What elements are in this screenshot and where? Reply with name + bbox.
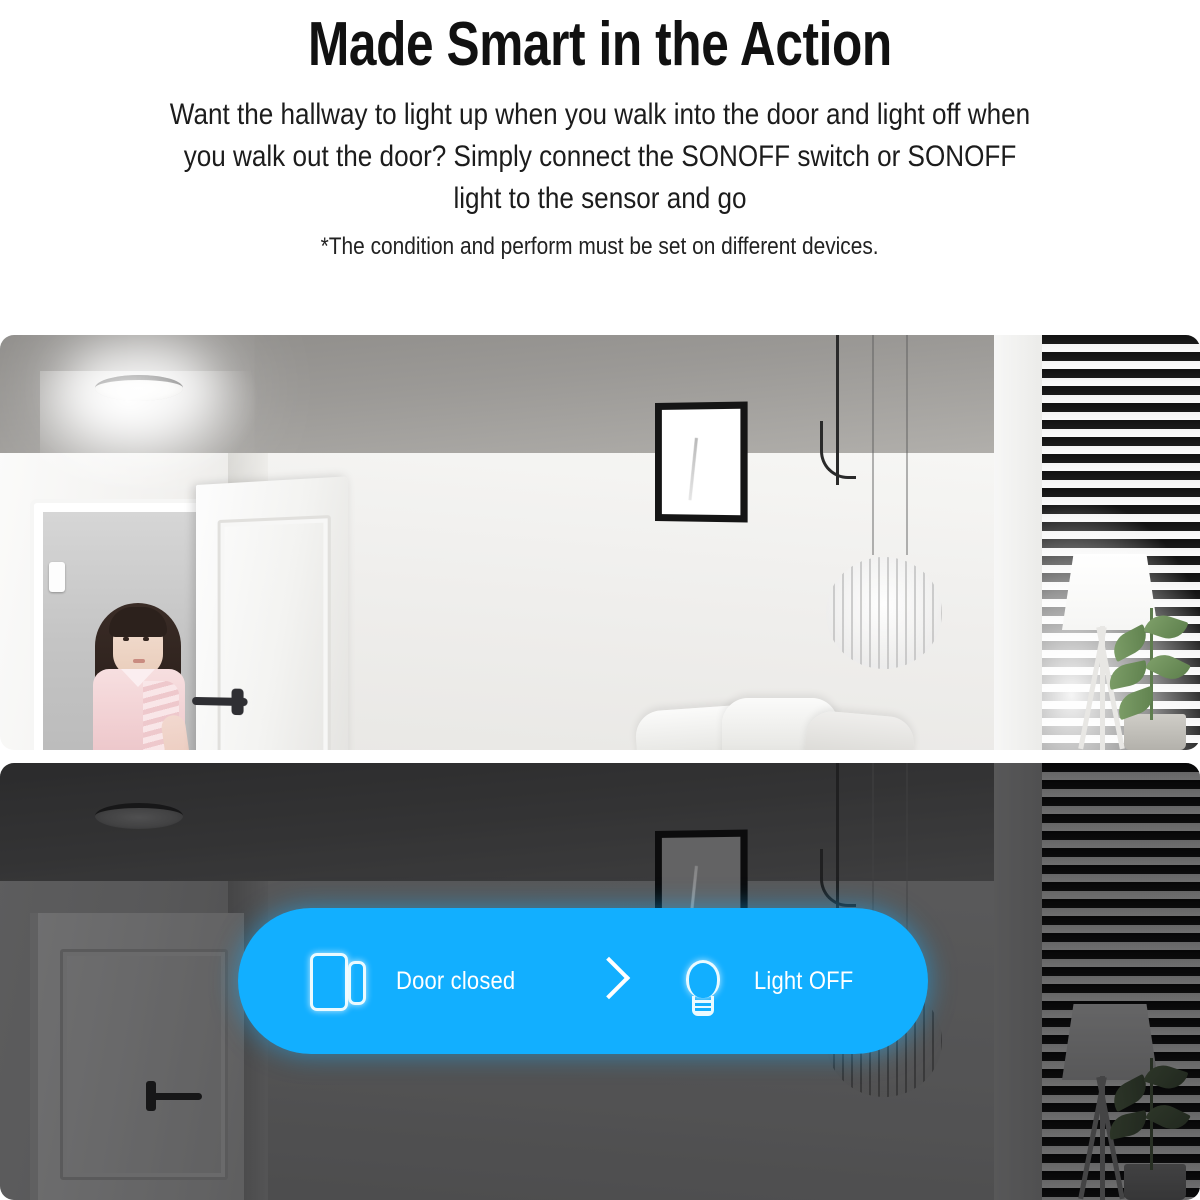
condition-label: Door closed (396, 967, 515, 996)
plant-leaf (1106, 1110, 1150, 1140)
sofa-cushions (636, 688, 906, 750)
mouth (133, 659, 145, 663)
window-side-wall (994, 335, 1042, 750)
door-panel-inset (60, 949, 228, 1180)
page-subtitle: Want the hallway to light up when you wa… (161, 94, 1040, 220)
ceiling-light-icon (95, 375, 183, 401)
chevron-right-icon (586, 951, 630, 1011)
header-section: Made Smart in the Action Want the hallwa… (0, 0, 1200, 318)
page-title: Made Smart in the Action (308, 10, 892, 80)
scene-photo-door-closed: Door closed Light OFF (0, 763, 1200, 1200)
pendant-wire-1 (872, 335, 874, 555)
lamp-leg (1100, 1076, 1105, 1200)
person-entering (81, 597, 193, 750)
window-side-wall (994, 763, 1042, 1200)
door-handle (192, 697, 248, 706)
arm (160, 714, 194, 750)
automation-banner-door-closed: Door closed Light OFF (238, 908, 928, 1054)
window-area (994, 335, 1200, 750)
scene-photo-door-opened: Door opened Light ON (0, 335, 1200, 750)
action-label: Light OFF (754, 967, 853, 996)
scene-lit (0, 335, 1200, 750)
bulb-glass (686, 960, 720, 998)
door-handle (152, 1093, 202, 1100)
ceiling-light-icon (95, 803, 183, 829)
lightbulb-off-icon (664, 942, 738, 1020)
cushion (804, 709, 916, 750)
door-sensor-closed-icon (304, 943, 380, 1019)
potted-plant (1106, 1050, 1194, 1200)
framed-wall-art (655, 401, 748, 522)
window-area (994, 763, 1200, 1200)
page-footnote: *The condition and perform must be set o… (321, 232, 879, 262)
bulb-base (692, 1000, 714, 1016)
pendant-wire-2 (906, 335, 908, 555)
plant-pot (1124, 714, 1186, 750)
pendant-lamp (826, 557, 942, 669)
door-leaf-closed (30, 913, 244, 1200)
lamp-leg (1100, 626, 1105, 750)
eye-left (123, 637, 129, 641)
condition-group: Door closed (304, 943, 532, 1019)
door-frame-open (34, 503, 216, 750)
sensor-body (310, 953, 348, 1011)
action-group: Light OFF (664, 942, 867, 1020)
door-leaf-open (196, 476, 348, 750)
eye-right (143, 637, 149, 641)
product-feature-page: Made Smart in the Action Want the hallwa… (0, 0, 1200, 1200)
art-line (688, 438, 697, 501)
sensor-magnet (348, 961, 366, 1005)
door-sensor-device (49, 562, 65, 592)
potted-plant (1106, 600, 1194, 750)
plant-pot (1124, 1164, 1186, 1200)
plant-leaf (1106, 660, 1150, 690)
hair-front (109, 607, 167, 637)
